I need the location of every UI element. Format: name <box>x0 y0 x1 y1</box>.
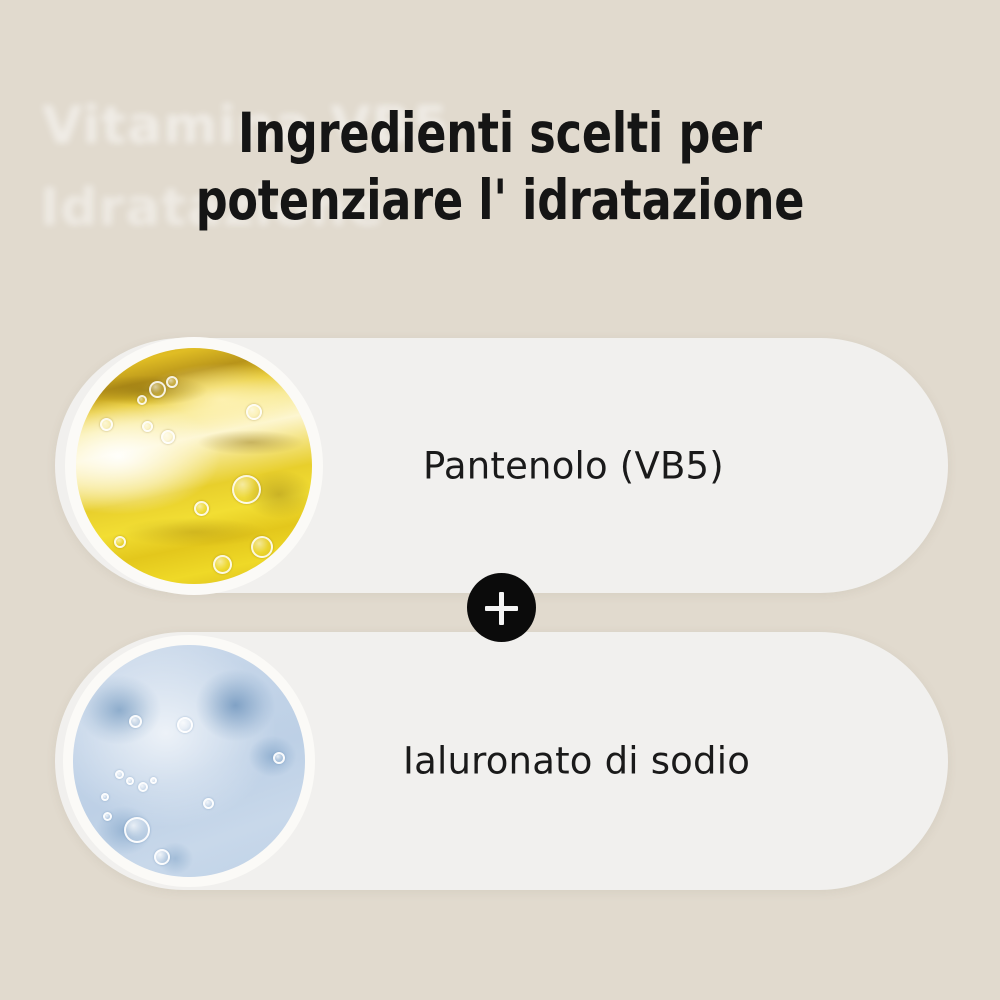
page-title: Ingredienti scelti per potenziare l' idr… <box>50 100 950 234</box>
bubble <box>115 770 124 779</box>
bubble <box>138 782 148 792</box>
ingredients-promo-page: Vitamina VB5 Idratazione Ingredienti sce… <box>0 0 1000 1000</box>
ingredient-swatch-ring-2 <box>63 635 315 887</box>
bubble <box>203 798 214 809</box>
bubble <box>126 777 134 785</box>
bubble <box>149 381 166 398</box>
ingredient-card-pantenolo[interactable]: Pantenolo (VB5) Pantenolo (VB5) <box>55 338 948 593</box>
plus-icon <box>467 573 536 642</box>
bubble <box>194 501 209 516</box>
bubble <box>154 849 170 865</box>
page-title-line2: potenziare l' idratazione <box>50 167 950 234</box>
bubble <box>129 715 142 728</box>
ingredient-swatch-ring-1 <box>65 337 323 595</box>
bubble <box>177 717 193 733</box>
bubble <box>232 475 261 504</box>
bubble <box>137 395 147 405</box>
bubble <box>101 793 109 801</box>
bubble <box>100 418 113 431</box>
bubble <box>124 817 150 843</box>
bubble <box>273 752 285 764</box>
bubble <box>213 555 232 574</box>
ingredient-card-ialuronato[interactable]: Ialuronato di sodio Ialuronato di sodio <box>55 632 948 890</box>
bubble <box>103 812 112 821</box>
blue-gel-texture-icon <box>73 645 305 877</box>
bubble <box>142 421 153 432</box>
page-title-line1: Ingredienti scelti per <box>50 100 950 167</box>
bubble <box>150 777 157 784</box>
bubble <box>161 430 175 444</box>
bubble <box>166 376 178 388</box>
ingredient-name-1: Pantenolo (VB5) <box>423 444 724 487</box>
bubble <box>251 536 273 558</box>
golden-oil-texture-icon <box>76 348 312 584</box>
plus-bar-vertical <box>499 592 504 625</box>
ingredient-name-2: Ialuronato di sodio <box>403 740 750 783</box>
bubble <box>114 536 126 548</box>
bubble <box>246 404 262 420</box>
